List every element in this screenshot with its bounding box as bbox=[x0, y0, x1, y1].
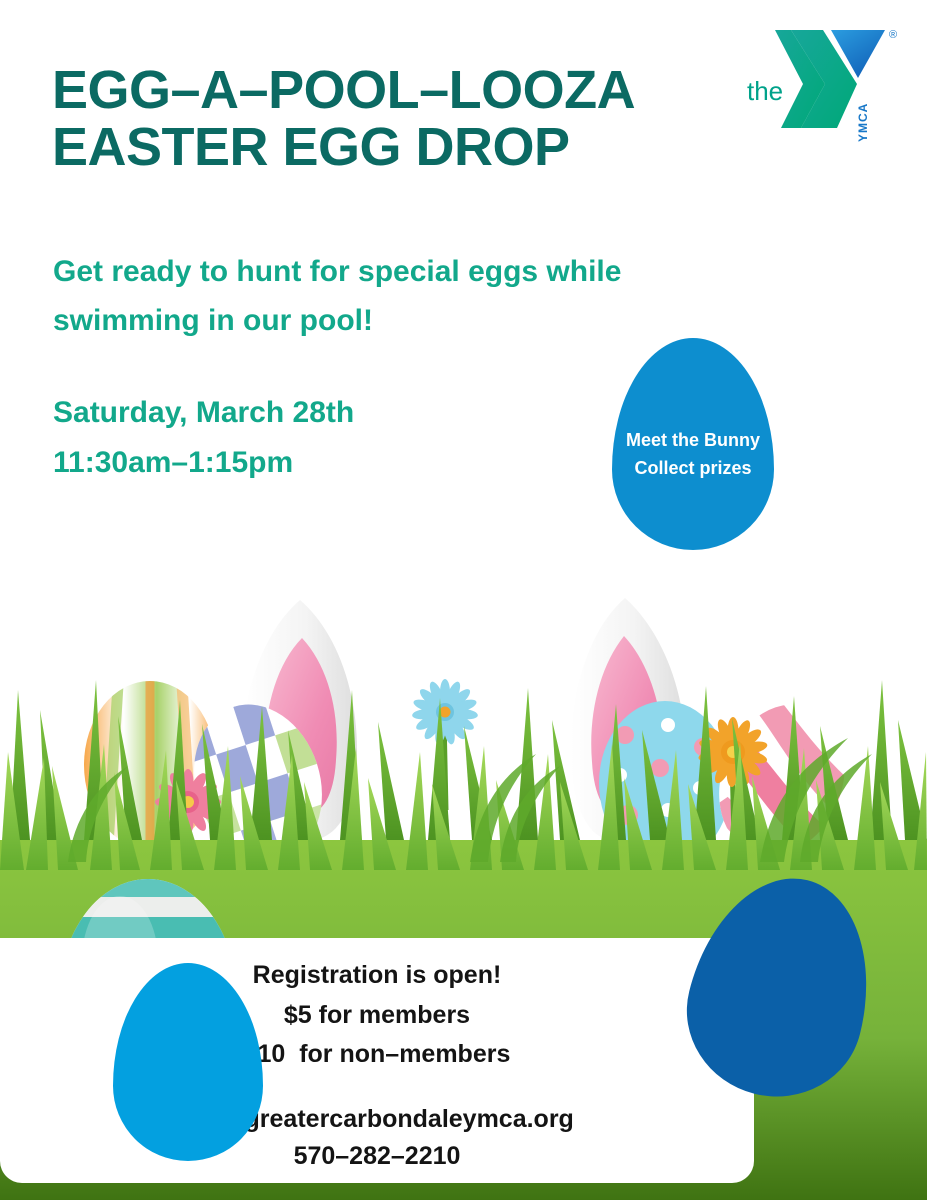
nonmember-price: $10 for non–members bbox=[244, 1035, 511, 1075]
page-title: EGG–A–POOL–LOOZA EASTER EGG DROP bbox=[52, 62, 742, 176]
registered-mark-icon: ® bbox=[889, 29, 897, 41]
registration-info-card: Registration is open! $5 for members $10… bbox=[0, 938, 754, 1183]
poster-canvas: EGG–A–POOL–LOOZA EASTER EGG DROP Get rea… bbox=[0, 0, 927, 1200]
logo-the-text: the bbox=[747, 76, 783, 106]
member-price: $5 for members bbox=[284, 996, 470, 1036]
phone-number[interactable]: 570–282–2210 bbox=[294, 1138, 461, 1176]
poster-subtitle: Get ready to hunt for special eggs while… bbox=[53, 248, 703, 345]
registration-status: Registration is open! bbox=[253, 956, 502, 996]
info-egg-line1: Meet the Bunny bbox=[626, 427, 760, 455]
event-datetime: Saturday, March 28th 11:30am–1:15pm bbox=[53, 388, 573, 489]
registration-info-text: Registration is open! $5 for members $10… bbox=[0, 938, 754, 1183]
info-egg-line2: Collect prizes bbox=[634, 455, 751, 483]
logo-ymca-text: YMCA bbox=[856, 103, 870, 142]
info-egg-badge: Meet the Bunny Collect prizes bbox=[612, 338, 774, 550]
ymca-logo: the YMCA ® bbox=[745, 22, 905, 157]
